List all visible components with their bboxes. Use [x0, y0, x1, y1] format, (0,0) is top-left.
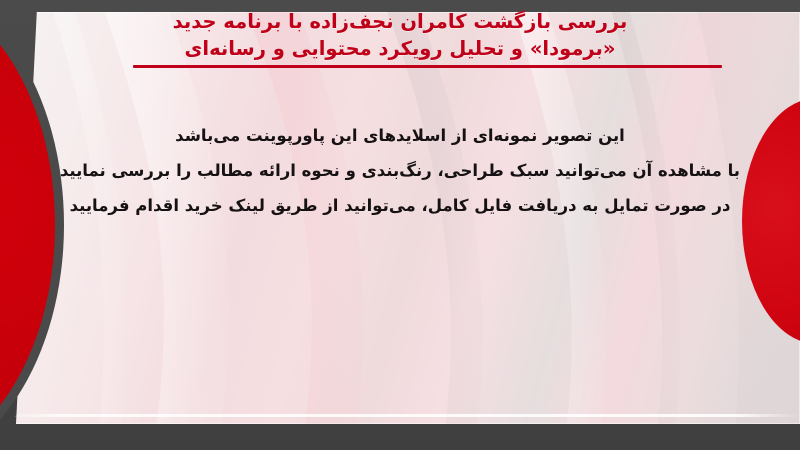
slide-title-line-2: «برمودا» و تحلیل رویکرد محتوایی و رسانه‌…	[0, 35, 800, 62]
slide-body-text: این تصویر نمونه‌ای از اسلایدهای این پاور…	[60, 118, 740, 223]
body-line-2: با مشاهده آن می‌توانید سبک طراحی، رنگ‌بن…	[60, 153, 740, 188]
slide-canvas: بررسی بازگشت کامران نجف‌زاده با برنامه ج…	[0, 0, 800, 450]
panel-bottom-highlight	[0, 414, 800, 417]
body-line-3: در صورت تمایل به دریافت فایل کامل، می‌تو…	[60, 188, 740, 223]
title-underline-rule	[133, 65, 722, 68]
body-line-1: این تصویر نمونه‌ای از اسلایدهای این پاور…	[60, 118, 740, 153]
slide-title-line-1: بررسی بازگشت کامران نجف‌زاده با برنامه ج…	[0, 8, 800, 35]
slide-title: بررسی بازگشت کامران نجف‌زاده با برنامه ج…	[0, 8, 800, 62]
